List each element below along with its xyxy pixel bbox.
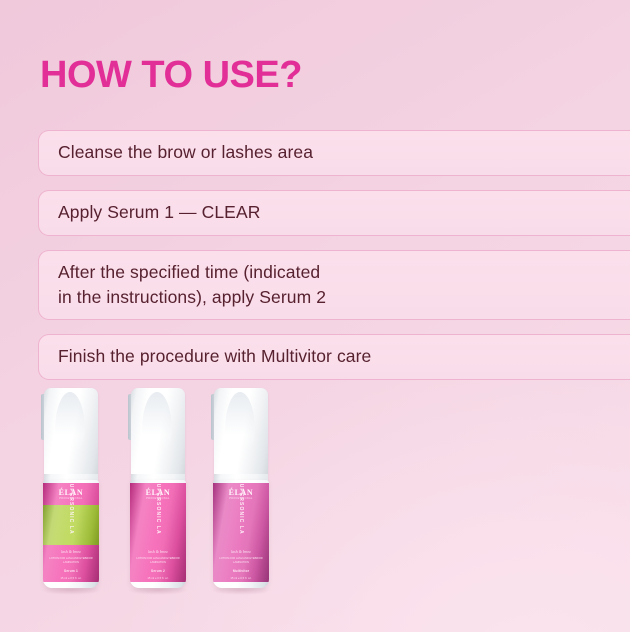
pump-cap	[131, 388, 185, 485]
label-volume: 15 ml e 0,5 fl. oz.	[43, 576, 99, 580]
step-2-line-1: Apply Serum 1 — CLEAR	[58, 200, 630, 225]
bottle-label: ÉLAN PROFESSIONAL SUPERSONIC LA lash & b…	[130, 483, 186, 582]
bottle-body: ÉLAN PROFESSIONAL SUPERSONIC LA lash & b…	[43, 480, 99, 588]
step-item-4: Finish the procedure with Multivitor car…	[38, 334, 630, 380]
step-item-3: After the specified time (indicated in t…	[38, 250, 630, 321]
steps-list: Cleanse the brow or lashes area Apply Se…	[38, 130, 630, 380]
step-3-line-2: in the instructions), apply Serum 2	[58, 285, 630, 310]
pump-cap	[44, 388, 98, 485]
label-script-text: lash & brow	[43, 549, 99, 554]
product-bottle-serum-2: ÉLAN PROFESSIONAL SUPERSONIC LA lash & b…	[128, 388, 188, 588]
label-volume: 15 ml e 0,5 fl. oz.	[213, 576, 269, 580]
bottle-body: ÉLAN PROFESSIONAL SUPERSONIC LA lash & b…	[213, 480, 269, 588]
product-line-name: SUPERSONIC LA	[68, 483, 74, 535]
label-script-text: lash & brow	[213, 549, 269, 554]
product-line-name: SUPERSONIC LA	[238, 483, 244, 535]
product-bottle-multivitor: ÉLAN PROFESSIONAL SUPERSONIC LA lash & b…	[211, 388, 271, 588]
label-variant: Multivitor	[213, 569, 269, 573]
step-4-line-1: Finish the procedure with Multivitor car…	[58, 344, 630, 369]
bottle-label: ÉLAN PROFESSIONAL SUPERSONIC LA lash & b…	[43, 483, 99, 582]
product-line-name: SUPERSONIC LA	[155, 483, 161, 535]
how-to-use-slide: HOW TO USE? Cleanse the brow or lashes a…	[0, 0, 630, 632]
label-variant: Serum 2	[130, 569, 186, 573]
label-description: LOTION FOR LASH AND EYEBROW LAMINATION	[213, 557, 269, 565]
step-1-line-1: Cleanse the brow or lashes area	[58, 140, 630, 165]
bottle-body: ÉLAN PROFESSIONAL SUPERSONIC LA lash & b…	[130, 480, 186, 588]
page-title: HOW TO USE?	[40, 56, 302, 94]
product-bottle-serum-1: ÉLAN PROFESSIONAL SUPERSONIC LA lash & b…	[41, 388, 101, 588]
label-variant: Serum 1	[43, 569, 99, 573]
label-volume: 15 ml e 0,5 fl. oz.	[130, 576, 186, 580]
label-script-text: lash & brow	[130, 549, 186, 554]
step-item-2: Apply Serum 1 — CLEAR	[38, 190, 630, 236]
bottle-label: ÉLAN PROFESSIONAL SUPERSONIC LA lash & b…	[213, 483, 269, 582]
label-description: LOTION FOR LASH AND EYEBROW LAMINATION	[130, 557, 186, 565]
product-bottles-group: ÉLAN PROFESSIONAL SUPERSONIC LA lash & b…	[0, 383, 630, 632]
pump-cap	[214, 388, 268, 485]
step-3-line-1: After the specified time (indicated	[58, 260, 630, 285]
label-description: LOTION FOR LASH AND EYEBROW LAMINATION	[43, 557, 99, 565]
step-item-1: Cleanse the brow or lashes area	[38, 130, 630, 176]
